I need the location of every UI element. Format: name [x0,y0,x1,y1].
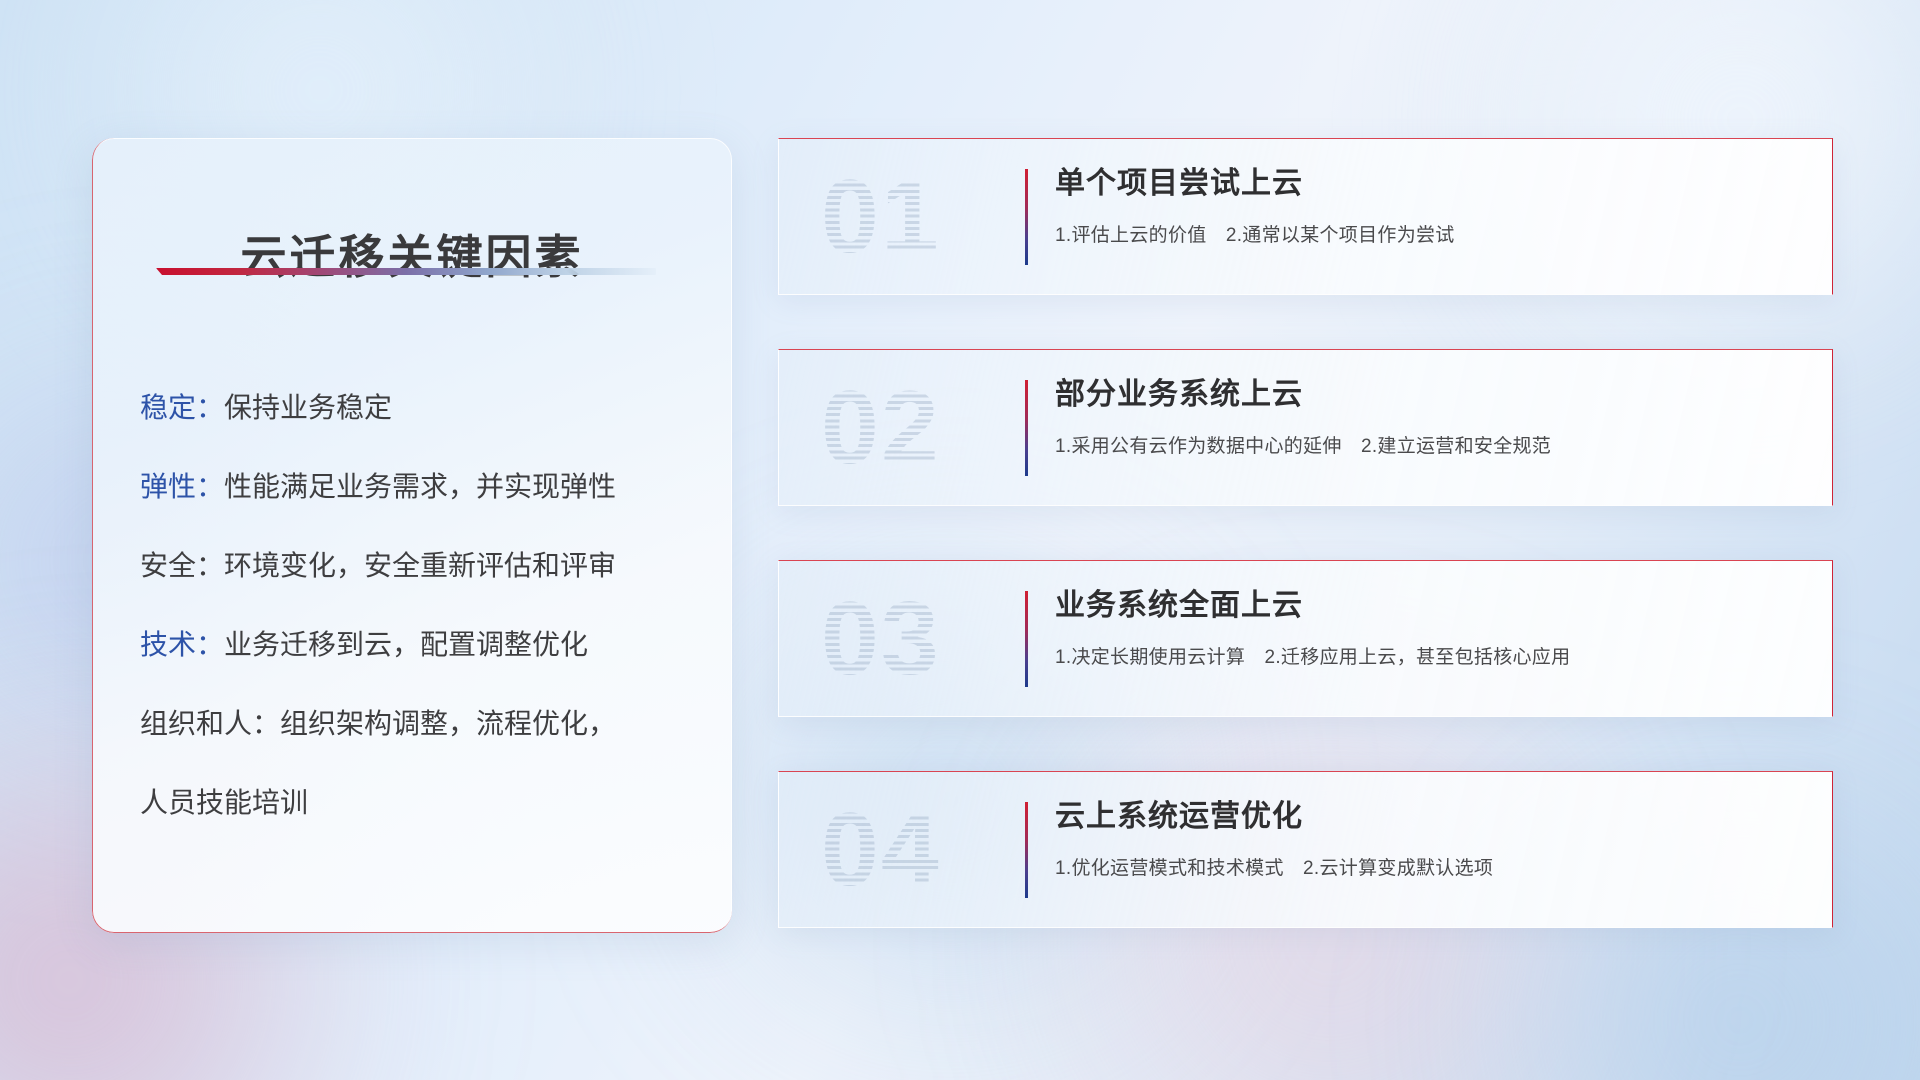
step-number-ghost: 02 [821,376,941,480]
step-title: 单个项目尝试上云 [1055,165,1808,203]
factor-item: 安全：环境变化，安全重新评估和评审 [140,552,702,580]
factor-item-continuation: 人员技能培训 [140,789,702,817]
slide-stage: 云迁移关键因素 稳定：保持业务稳定 弹性：性能满足业务需求，并实现弹性 安全：环… [0,0,1920,1080]
factor-text: 环境变化，安全重新评估和评审 [224,550,616,581]
step-number-ghost: 04 [821,798,941,902]
step-card-03[interactable]: 03 业务系统全面上云 1.决定长期使用云计算 2.迁移应用上云，甚至包括核心应… [778,560,1833,717]
factor-label: 稳定： [140,392,224,423]
step-content: 部分业务系统上云 1.采用公有云作为数据中心的延伸 2.建立运营和安全规范 [1055,376,1808,458]
step-divider [1025,591,1028,687]
step-number-ghost: 01 [821,165,941,269]
factor-text: 性能满足业务需求，并实现弹性 [224,471,616,502]
factor-text: 业务迁移到云，配置调整优化 [224,629,588,660]
factor-item: 弹性：性能满足业务需求，并实现弹性 [140,473,702,501]
step-content: 云上系统运营优化 1.优化运营模式和技术模式 2.云计算变成默认选项 [1055,798,1808,880]
factor-text: 组织架构调整，流程优化， [280,708,616,739]
step-title: 云上系统运营优化 [1055,798,1808,836]
step-title: 部分业务系统上云 [1055,376,1808,414]
step-number-ghost: 03 [821,587,941,691]
migration-steps-list: 01 单个项目尝试上云 1.评估上云的价值 2.通常以某个项目作为尝试 02 部… [778,138,1833,928]
factor-list: 稳定：保持业务稳定 弹性：性能满足业务需求，并实现弹性 安全：环境变化，安全重新… [140,394,702,817]
factor-label: 组织和人： [140,708,280,739]
step-divider [1025,802,1028,898]
step-description: 1.评估上云的价值 2.通常以某个项目作为尝试 [1055,220,1808,247]
step-content: 业务系统全面上云 1.决定长期使用云计算 2.迁移应用上云，甚至包括核心应用 [1055,587,1808,669]
factor-text: 人员技能培训 [140,787,308,818]
page-title: 云迁移关键因素 [92,221,732,287]
step-card-01[interactable]: 01 单个项目尝试上云 1.评估上云的价值 2.通常以某个项目作为尝试 [778,138,1833,295]
factor-item: 稳定：保持业务稳定 [140,394,702,422]
step-description: 1.优化运营模式和技术模式 2.云计算变成默认选项 [1055,853,1808,880]
step-description: 1.采用公有云作为数据中心的延伸 2.建立运营和安全规范 [1055,431,1808,458]
step-card-02[interactable]: 02 部分业务系统上云 1.采用公有云作为数据中心的延伸 2.建立运营和安全规范 [778,349,1833,506]
step-divider [1025,380,1028,476]
step-description: 1.决定长期使用云计算 2.迁移应用上云，甚至包括核心应用 [1055,642,1808,669]
factor-label: 技术： [140,629,224,660]
step-content: 单个项目尝试上云 1.评估上云的价值 2.通常以某个项目作为尝试 [1055,165,1808,247]
key-factors-panel: 云迁移关键因素 稳定：保持业务稳定 弹性：性能满足业务需求，并实现弹性 安全：环… [92,138,732,933]
step-card-04[interactable]: 04 云上系统运营优化 1.优化运营模式和技术模式 2.云计算变成默认选项 [778,771,1833,928]
factor-item: 组织和人：组织架构调整，流程优化， [140,710,702,738]
step-divider [1025,169,1028,265]
factor-label: 弹性： [140,471,224,502]
title-underline-gradient [156,268,656,275]
factor-text: 保持业务稳定 [224,392,392,423]
factor-label: 安全： [140,550,224,581]
factor-item: 技术：业务迁移到云，配置调整优化 [140,631,702,659]
step-title: 业务系统全面上云 [1055,587,1808,625]
